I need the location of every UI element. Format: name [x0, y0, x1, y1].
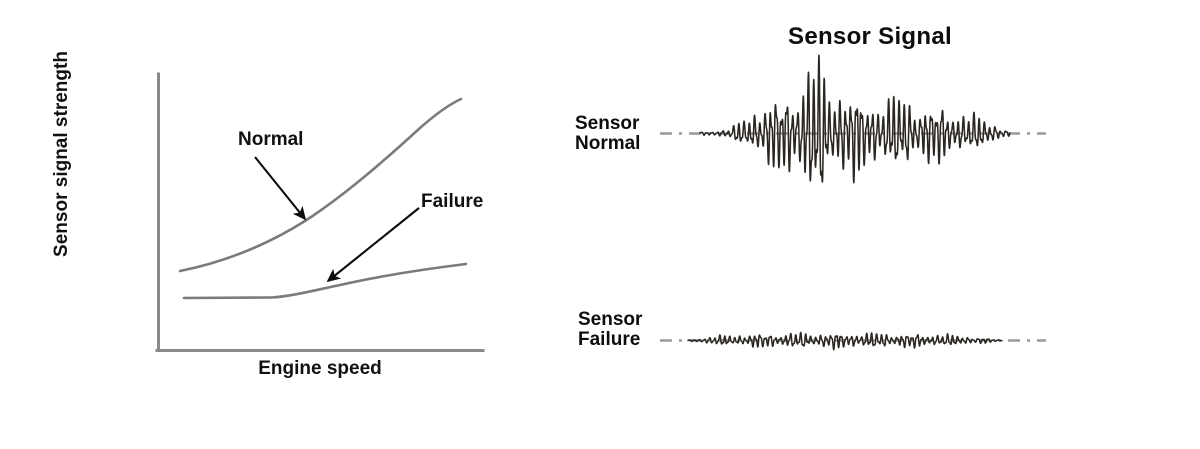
annotation-arrow-failure	[328, 208, 419, 281]
left-chart-svg	[0, 0, 540, 449]
annotation-arrow-normal	[255, 157, 305, 219]
sensor-normal-trace	[700, 55, 1010, 182]
annotation-label-normal: Normal	[238, 129, 303, 151]
x-axis-label: Engine speed	[158, 358, 482, 380]
sensor-signal-panel: Sensor Signal Sensor Normal Sensor Failu…	[540, 0, 1200, 449]
waveform-svg	[540, 0, 1200, 449]
series-line-normal	[180, 99, 461, 271]
figure-root: Sensor signal strength Engine speed Norm…	[0, 0, 1200, 449]
annotation-label-failure: Failure	[421, 191, 483, 213]
engine-speed-chart: Sensor signal strength Engine speed Norm…	[0, 0, 540, 449]
series-line-failure	[184, 264, 466, 298]
y-axis-label: Sensor signal strength	[51, 24, 73, 284]
